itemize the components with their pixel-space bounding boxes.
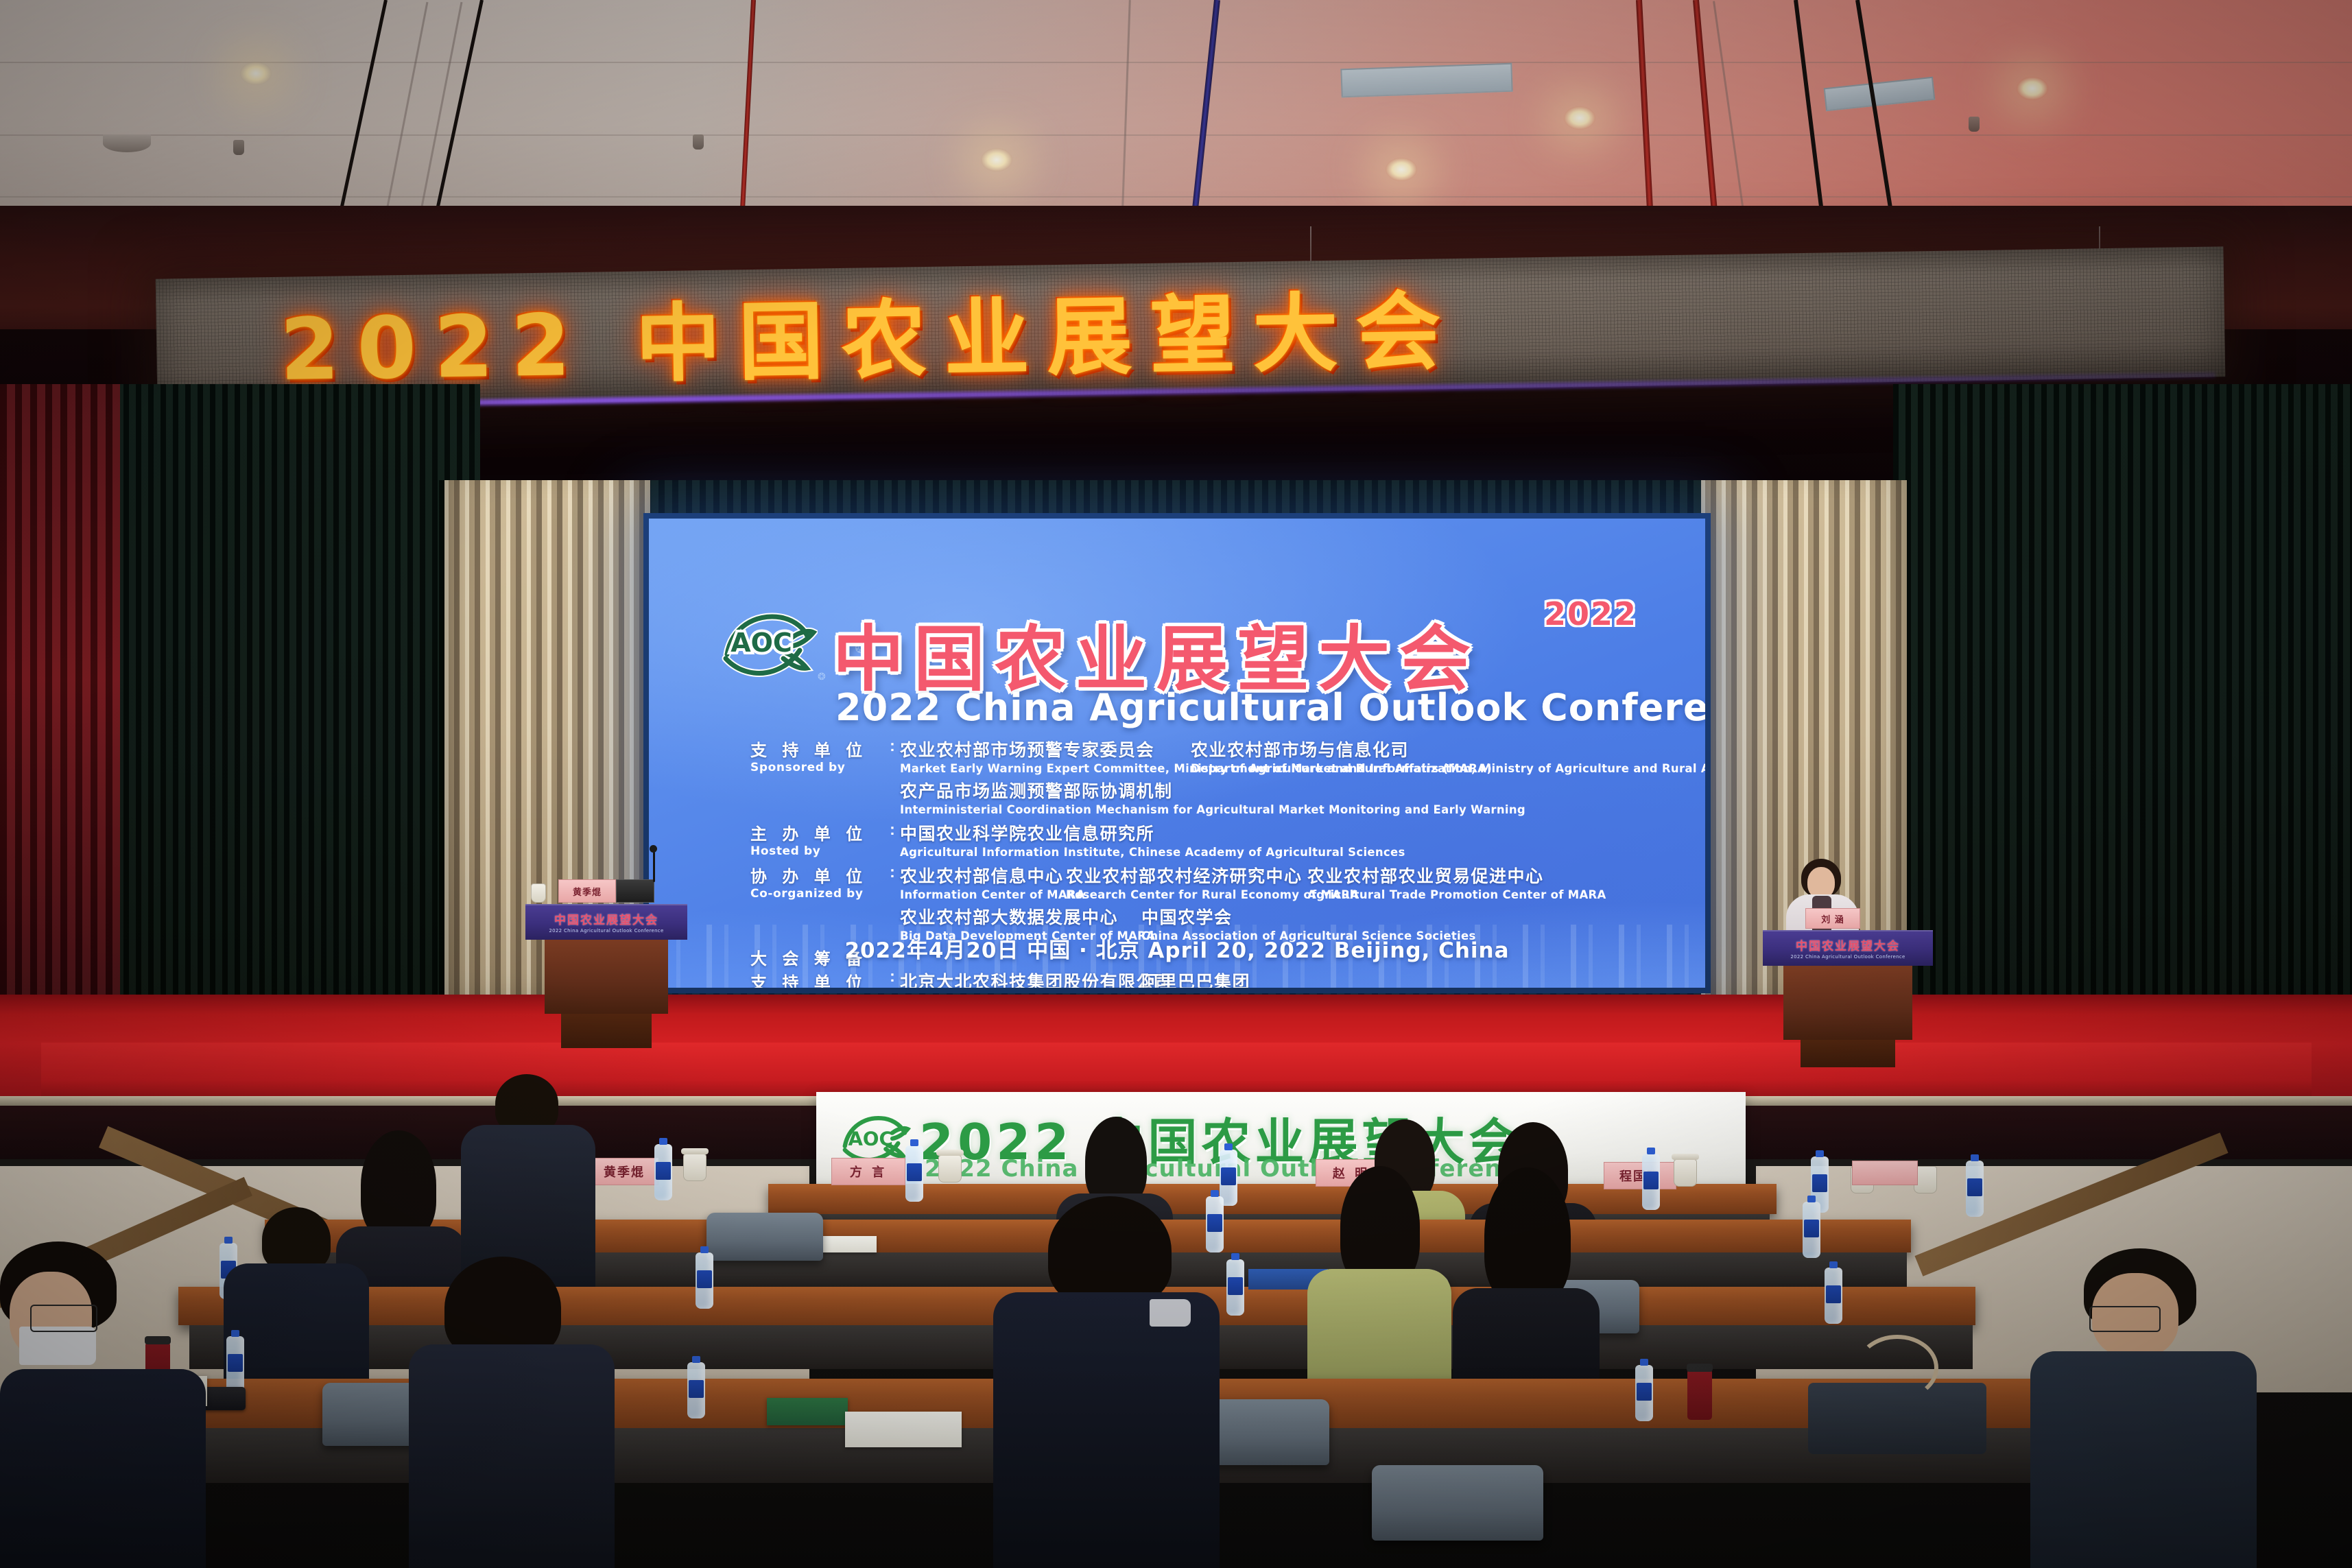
tea-cup-lid xyxy=(681,1148,709,1154)
podium-left-brand-en: 2022 China Agricultural Outlook Conferen… xyxy=(549,928,663,934)
credit-org: 中国农业科学院农业信息研究所 Agricultural Information … xyxy=(900,820,1421,859)
seated-attendee-foreground xyxy=(409,1257,615,1568)
credit-label-zh: 支 持 单 位 xyxy=(750,737,885,761)
podium-left-brand-zh: 中国农业展望大会 xyxy=(554,910,658,927)
credit-label-zh: 主 办 单 位 xyxy=(750,820,885,844)
credit-org-en: Information Center of MARA xyxy=(900,888,1051,901)
chair xyxy=(1372,1465,1543,1541)
ceiling-red-cable xyxy=(1636,0,1654,226)
credit-org-zh: 农产品市场监测预警部际协调机制 xyxy=(900,778,1525,803)
credit-org: 农产品市场监测预警部际协调机制 Interministerial Coordin… xyxy=(900,778,1541,816)
credit-org: 阿里巴巴集团 Alibaba Group xyxy=(1141,969,1266,988)
attendee-torso xyxy=(993,1292,1220,1568)
podium-left-cup xyxy=(531,883,546,903)
tea-cup-lid xyxy=(1672,1154,1699,1160)
podium-right: 中国农业展望大会 2022 China Agricultural Outlook… xyxy=(1763,930,1933,1067)
water-bottle xyxy=(1803,1202,1820,1258)
attendee-hair xyxy=(361,1130,436,1240)
credit-row-interministerial: 农产品市场监测预警部际协调机制 Interministerial Coordin… xyxy=(900,778,1670,816)
screen-bird-graphic: ❂ xyxy=(818,671,826,682)
sprinkler-head xyxy=(1969,117,1980,132)
credit-org: 农业农村部农业贸易促进中心 Agricultural Trade Promoti… xyxy=(1307,863,1622,901)
stage-curtain-right xyxy=(1893,384,2352,1043)
attendee-hair xyxy=(1048,1196,1172,1306)
podium-right-brand-zh: 中国农业展望大会 xyxy=(1796,936,1900,953)
aoc-logo-text: AOC xyxy=(730,628,792,658)
water-bottle xyxy=(1226,1259,1244,1316)
podium-left-body xyxy=(545,940,667,1014)
ceiling-air-vent xyxy=(1340,63,1512,98)
ceiling-downlight xyxy=(1564,106,1595,130)
ceiling-downlight xyxy=(240,62,272,85)
credit-colon: : xyxy=(885,820,900,839)
credit-org-en: Research Center for Rural Economy of MAR… xyxy=(1066,888,1292,901)
seated-attendee-foreground xyxy=(0,1242,206,1568)
credit-org: 农业农村部市场预警专家委员会 Market Early Warning Expe… xyxy=(900,737,1191,775)
credit-label-zh-2: 支 持 单 位 xyxy=(750,969,885,988)
screen-date-location: 2022年4月20日 中国 · 北京 April 20, 2022 Beijin… xyxy=(649,933,1705,964)
credit-org-zh: 中国农学会 xyxy=(1141,904,1476,929)
eyeglasses xyxy=(2089,1306,2161,1332)
credit-org-zh: 阿里巴巴集团 xyxy=(1141,969,1250,988)
ceiling-downlight xyxy=(981,148,1012,171)
face-mask xyxy=(19,1327,96,1365)
water-bottle xyxy=(1642,1154,1660,1210)
sprinkler-head xyxy=(233,140,244,155)
ceiling-downlight xyxy=(1386,158,1417,181)
credit-org-en: Interministerial Coordination Mechanism … xyxy=(900,803,1525,816)
credit-org-zh: 农业农村部大数据发展中心 xyxy=(900,904,1126,929)
attendee-torso xyxy=(2030,1351,2257,1568)
chair xyxy=(706,1213,823,1261)
credit-colon: : xyxy=(885,967,900,986)
name-card: 程国强 xyxy=(1604,1162,1676,1189)
podium-right-name-card: 刘 涵 xyxy=(1805,908,1860,929)
credit-label: 主 办 单 位 Hosted by xyxy=(750,820,885,858)
tea-cup xyxy=(938,1155,962,1183)
sprinkler-head xyxy=(693,134,704,150)
travel-tumbler-lid xyxy=(1687,1364,1713,1372)
water-bottle xyxy=(1825,1268,1842,1324)
credit-org: 北京大北农科技集团股份有限公司 Da Bei Nong Group xyxy=(900,969,1141,988)
credit-org: 农业农村部信息中心 Information Center of MARA xyxy=(900,863,1066,901)
credit-org: 农业农村部农村经济研究中心 Research Center for Rural … xyxy=(1066,863,1307,901)
ceiling-support-rod xyxy=(1855,0,1895,224)
water-bottle xyxy=(226,1336,244,1392)
podium-right-base xyxy=(1801,1040,1896,1067)
attendee-hair xyxy=(1085,1117,1147,1206)
water-bottle xyxy=(696,1252,713,1309)
credit-org-en: Market Early Warning Expert Committee, M… xyxy=(900,762,1176,775)
attendee-torso xyxy=(409,1344,615,1568)
tea-cup xyxy=(683,1154,706,1181)
ceiling xyxy=(0,0,2352,226)
water-bottle xyxy=(1966,1161,1984,1217)
credit-org: 农业农村部市场与信息化司 Department of Market and In… xyxy=(1191,737,1705,775)
screen-subtitle-en: 2022 China Agricultural Outlook Conferen… xyxy=(835,686,1705,729)
name-card xyxy=(1852,1161,1918,1185)
screen-content: ❂ ❂ ❂ xyxy=(649,519,1705,988)
credit-label-en: Co-organized by xyxy=(750,887,885,901)
face-mask xyxy=(1150,1299,1191,1327)
podium-left: 中国农业展望大会 2022 China Agricultural Outlook… xyxy=(525,904,687,1048)
credit-colon: : xyxy=(885,863,900,881)
podium-left-microphone-head xyxy=(650,845,657,853)
credit-label-en: Sponsored by xyxy=(750,761,885,774)
stage-curtain-red-left xyxy=(0,384,120,1043)
podium-left-top: 中国农业展望大会 2022 China Agricultural Outlook… xyxy=(525,904,687,940)
ceiling-support-rod xyxy=(337,0,388,222)
credit-label-zh: 协 办 单 位 xyxy=(750,863,885,887)
podium-left-microphone xyxy=(653,852,655,882)
podium-left-name-card: 黄季焜 xyxy=(558,879,616,903)
credit-org-en: Agricultural Trade Promotion Center of M… xyxy=(1307,888,1606,901)
podium-right-top: 中国农业展望大会 2022 China Agricultural Outlook… xyxy=(1763,930,1933,966)
ceiling-blue-cable xyxy=(1191,0,1220,226)
eyeglasses xyxy=(30,1305,97,1332)
ceiling-support-rod xyxy=(1794,0,1825,225)
tea-cup xyxy=(1674,1159,1697,1187)
credit-org-zh: 北京大北农科技集团股份有限公司 xyxy=(900,969,1126,988)
seated-attendee-foreground xyxy=(2023,1248,2257,1568)
led-banner-text: 2022 中国农业展望大会 xyxy=(279,260,1790,401)
credit-org-zh: 农业农村部市场与信息化司 xyxy=(1191,737,1705,761)
notebook-green xyxy=(767,1398,848,1425)
credit-label: 支 持 单 位 Sponsored by xyxy=(750,737,885,774)
podium-right-brand-en: 2022 China Agricultural Outlook Conferen… xyxy=(1790,954,1905,960)
credit-row-sponsored: 支 持 单 位 Sponsored by : 农业农村部市场预警专家委员会 Ma… xyxy=(750,737,1670,775)
credit-row-coorganized: 协 办 单 位 Co-organized by : 农业农村部信息中心 Info… xyxy=(750,863,1670,901)
seated-attendee xyxy=(1307,1166,1451,1413)
screen-title-year: 2022 xyxy=(1544,595,1637,632)
travel-tumbler xyxy=(1687,1369,1712,1420)
credit-org-zh: 农业农村部信息中心 xyxy=(900,863,1051,888)
ceiling-red-cable xyxy=(739,0,756,226)
water-bottle xyxy=(905,1145,923,1202)
name-card: 黄季焜 xyxy=(590,1158,658,1185)
ceiling-downlight xyxy=(2017,77,2048,100)
seated-attendee-foreground xyxy=(993,1196,1220,1568)
water-bottle xyxy=(654,1144,672,1200)
credit-org-zh: 农业农村部市场预警专家委员会 xyxy=(900,737,1176,761)
ceiling-air-vent xyxy=(1824,77,1936,112)
credit-org-en: Agricultural Information Institute, Chin… xyxy=(900,846,1405,859)
ceiling-red-cable xyxy=(1693,0,1719,226)
credit-colon: : xyxy=(885,737,900,755)
podium-left-base xyxy=(561,1014,652,1048)
credit-row-hosted: 主 办 单 位 Hosted by : 中国农业科学院农业信息研究所 Agric… xyxy=(750,820,1670,859)
tea-cup-lid xyxy=(936,1150,964,1156)
stage-projection-screen: ❂ ❂ ❂ xyxy=(643,513,1711,993)
credit-label-en: Hosted by xyxy=(750,844,885,858)
podium-left-control-unit[interactable] xyxy=(616,879,654,903)
attendee-torso xyxy=(0,1369,206,1568)
attendee-hair xyxy=(1484,1167,1571,1305)
bag-strap xyxy=(1856,1335,1938,1401)
attendee-hair xyxy=(262,1207,331,1272)
credit-label: 协 办 单 位 Co-organized by xyxy=(750,863,885,901)
water-bottle xyxy=(687,1362,705,1418)
credit-org-zh: 中国农业科学院农业信息研究所 xyxy=(900,820,1405,845)
aoc-logo-text: AOC xyxy=(848,1128,892,1150)
credit-org-en: Department of Market and Informatization… xyxy=(1191,762,1705,775)
name-card: 方 言 xyxy=(831,1158,905,1185)
document-sheet xyxy=(845,1412,962,1447)
aoc-logo-icon: AOC AOC xyxy=(715,595,818,698)
ceiling-speaker xyxy=(103,134,151,152)
credit-org-zh: 农业农村部农村经济研究中心 xyxy=(1066,863,1292,888)
water-bottle xyxy=(1635,1365,1653,1421)
podium-right-body xyxy=(1783,966,1912,1040)
conference-hall-photo: 2022 中国农业展望大会 ❂ ❂ ❂ xyxy=(0,0,2352,1568)
credit-org-zh: 农业农村部农业贸易促进中心 xyxy=(1307,863,1606,888)
